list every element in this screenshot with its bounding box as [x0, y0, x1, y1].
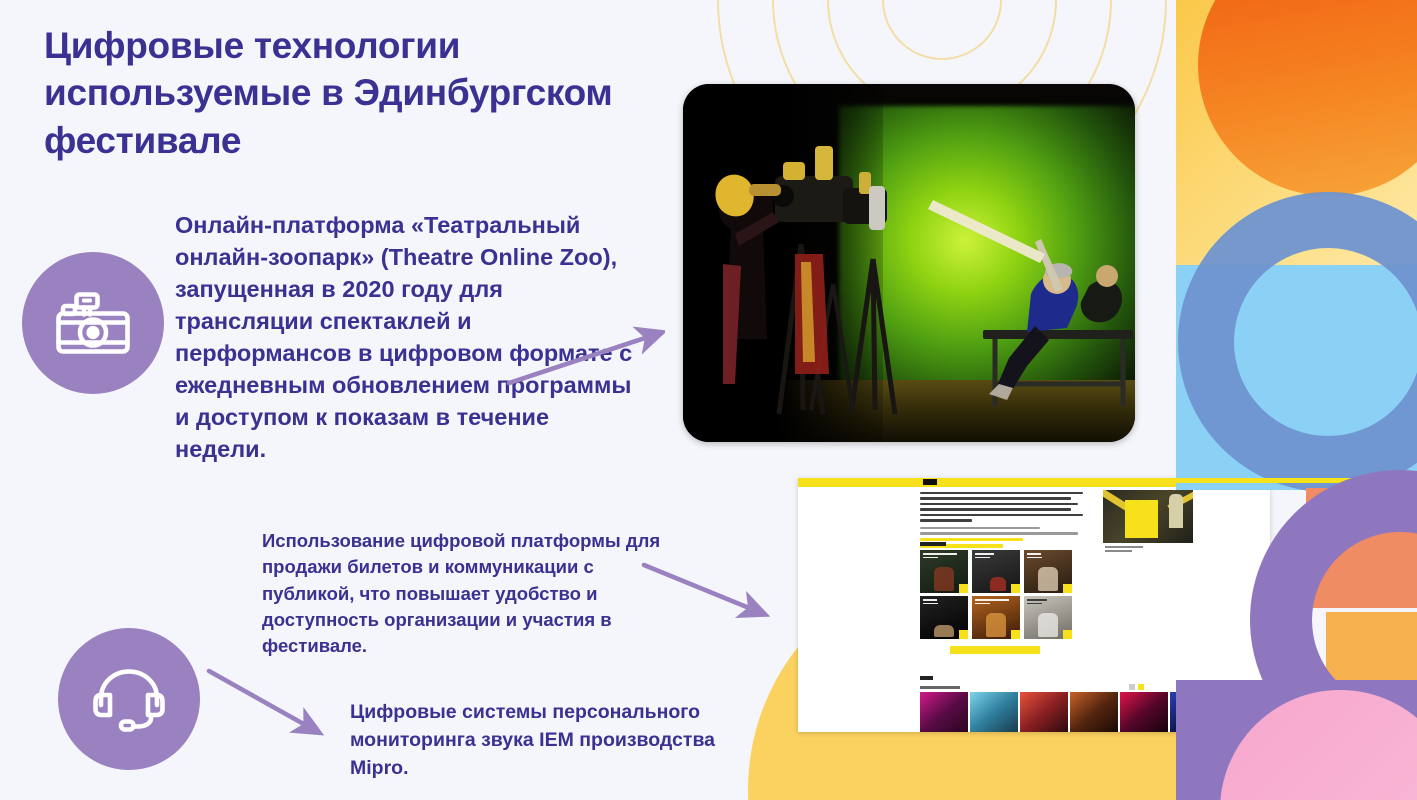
theatre-filming-photo [683, 84, 1135, 442]
website-hero-caption [1105, 546, 1143, 555]
website-card[interactable] [972, 550, 1020, 593]
instagram-next-icon[interactable] [1138, 684, 1144, 690]
arrow-down-right-icon-2 [205, 665, 335, 750]
slide-canvas: Цифровые технологии используемые в Эдинб… [0, 0, 1417, 800]
website-instagram-controls[interactable] [1129, 684, 1144, 690]
instagram-photo[interactable] [920, 692, 968, 732]
body-text-platform: Онлайн-платформа «Театральный онлайн-зоо… [175, 210, 635, 466]
website-card[interactable] [920, 550, 968, 593]
instagram-photo[interactable] [970, 692, 1018, 732]
website-social-heading [920, 676, 933, 680]
instagram-photo[interactable] [1020, 692, 1068, 732]
decor-ring-1 [882, 0, 1002, 60]
camera-icon [56, 292, 130, 354]
website-cta-button[interactable] [950, 646, 1040, 654]
photo-figures [683, 84, 1135, 442]
website-card[interactable] [1024, 596, 1072, 639]
instagram-prev-icon[interactable] [1129, 684, 1135, 690]
headset-icon-badge [58, 628, 200, 770]
website-instagram-label [920, 686, 960, 689]
body-text-iem: Цифровые системы персонального мониторин… [350, 698, 720, 782]
camera-icon-badge [22, 252, 164, 394]
website-card-grid [920, 550, 1072, 639]
website-card[interactable] [972, 596, 1020, 639]
body-text-ticketing: Использование цифровой платформы для про… [262, 528, 687, 659]
headset-icon [93, 665, 165, 733]
website-logo [923, 479, 937, 485]
decorative-shapes-panel [1158, 0, 1417, 800]
website-section-heading [920, 542, 946, 546]
website-card[interactable] [920, 596, 968, 639]
instagram-photo[interactable] [1070, 692, 1118, 732]
website-card[interactable] [1024, 550, 1072, 593]
page-title: Цифровые технологии используемые в Эдинб… [44, 22, 684, 164]
